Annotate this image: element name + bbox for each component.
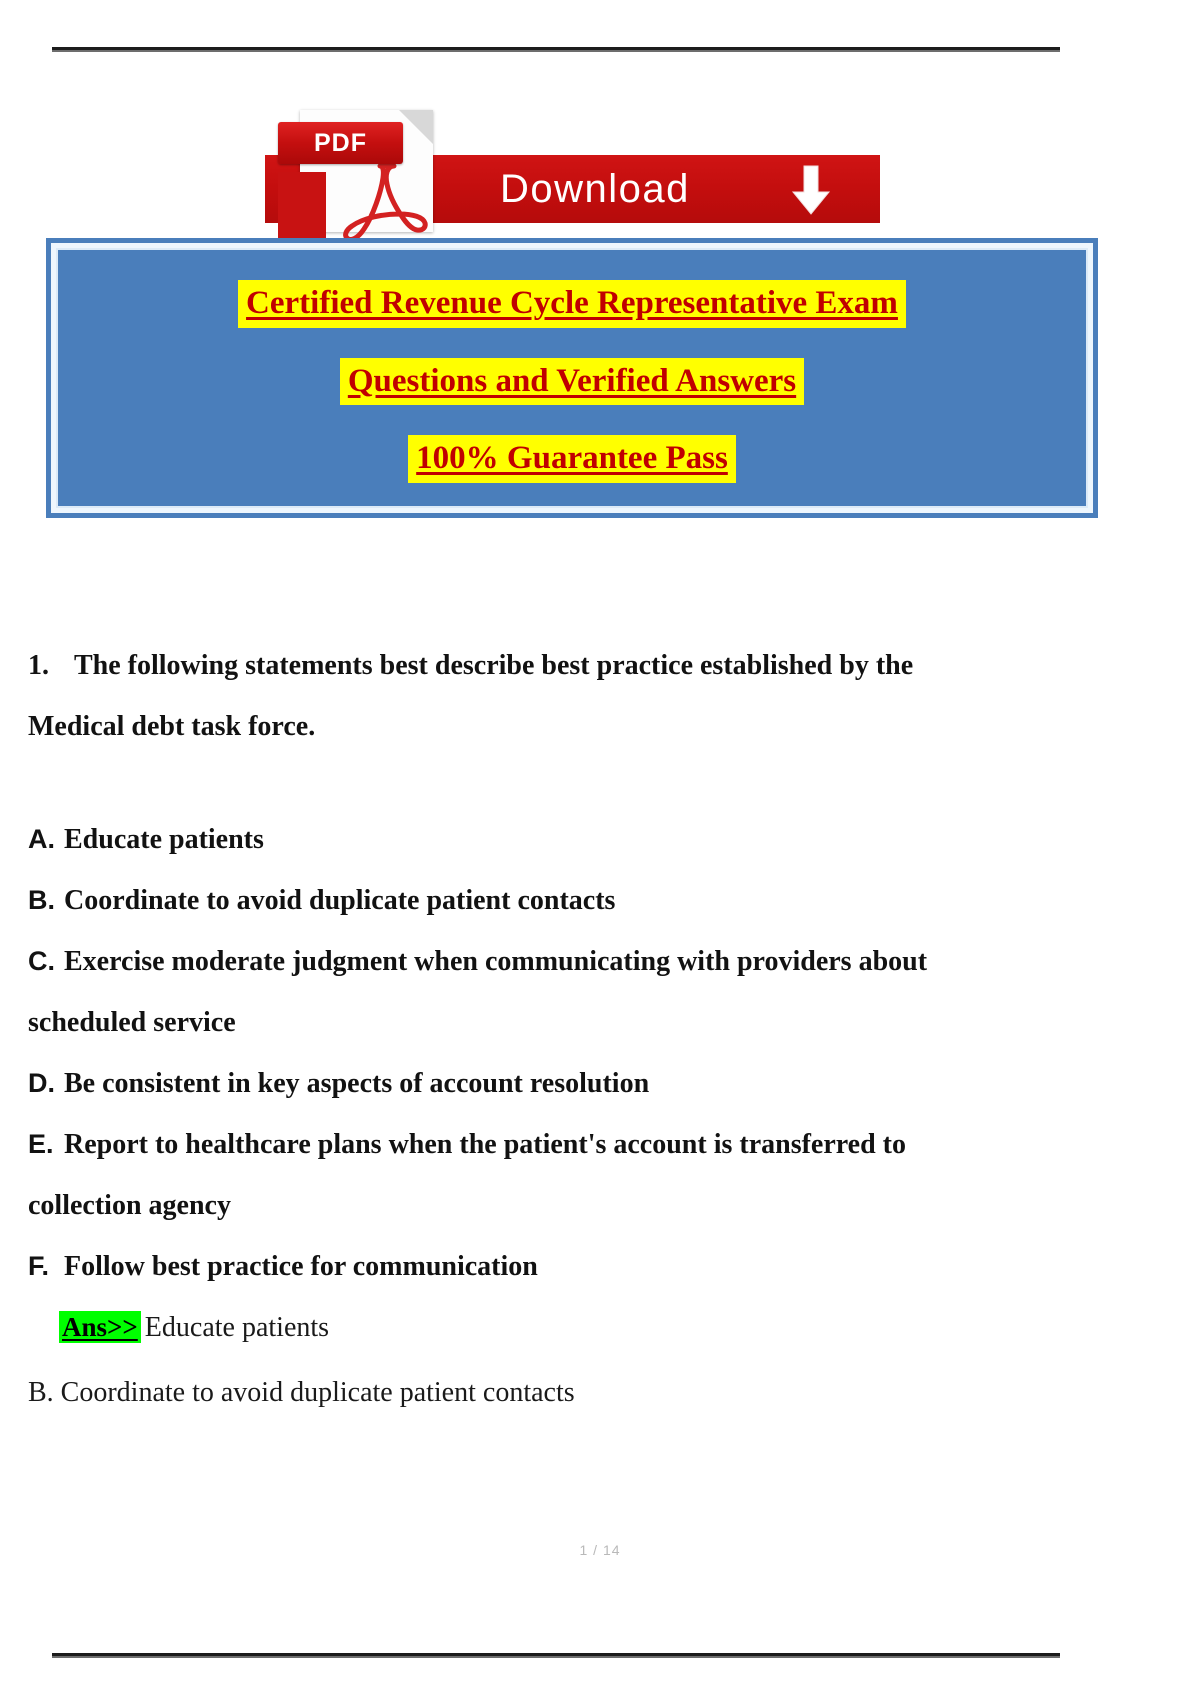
exam-title-banner: Certified Revenue Cycle Representative E… — [46, 238, 1098, 518]
acrobat-swirl-icon — [342, 162, 438, 242]
option-e-text: Report to healthcare plans when the pati… — [64, 1114, 906, 1175]
option-c[interactable]: C. Exercise moderate judgment when commu… — [28, 931, 1058, 992]
answer-tag: Ans>> — [59, 1311, 141, 1343]
pdf-label-text: PDF — [278, 122, 403, 164]
question-line-1: 1.The following statements best describe… — [28, 635, 1058, 696]
option-f[interactable]: F. Follow best practice for communicatio… — [28, 1236, 1058, 1297]
option-e-continuation: collection agency — [28, 1175, 1058, 1236]
option-c-text: Exercise moderate judgment when communic… — [64, 931, 927, 992]
option-f-letter: F. — [28, 1236, 64, 1297]
exam-title-banner-inner: Certified Revenue Cycle Representative E… — [56, 248, 1088, 508]
answer-text: Educate patients — [141, 1312, 329, 1343]
pdf-label-badge: PDF — [278, 122, 403, 164]
option-c-letter: C. — [28, 931, 64, 992]
footer-divider — [52, 1653, 1060, 1656]
question-spacer — [28, 757, 1058, 809]
exam-title-line-3: 100% Guarantee Pass — [408, 435, 736, 483]
option-d[interactable]: D. Be consistent in key aspects of accou… — [28, 1053, 1058, 1114]
option-e-letter: E. — [28, 1114, 64, 1175]
option-e[interactable]: E. Report to healthcare plans when the p… — [28, 1114, 1058, 1175]
answer-row: Ans>>Educate patients — [28, 1297, 1058, 1362]
question-number: 1. — [28, 635, 74, 696]
pdf-page-fold — [399, 110, 433, 144]
option-b-letter: B. — [28, 870, 64, 931]
option-a-letter: A. — [28, 809, 64, 870]
download-button-label[interactable]: Download — [500, 163, 770, 215]
download-arrow-icon — [786, 164, 836, 216]
pdf-icon-bar — [278, 172, 326, 238]
question-content: 1.The following statements best describe… — [28, 635, 1058, 1423]
option-d-letter: D. — [28, 1053, 64, 1114]
option-c-continuation: scheduled service — [28, 992, 1058, 1053]
exam-title-line-2: Questions and Verified Answers — [340, 358, 804, 406]
header-divider — [52, 47, 1060, 50]
question-text-1: The following statements best describe b… — [74, 650, 913, 681]
page-number: 1 / 14 — [0, 1542, 1200, 1558]
option-b[interactable]: B. Coordinate to avoid duplicate patient… — [28, 870, 1058, 931]
option-a[interactable]: A. Educate patients — [28, 809, 1058, 870]
option-f-text: Follow best practice for communication — [64, 1236, 538, 1297]
question-line-2: Medical debt task force. — [28, 696, 1058, 757]
pdf-file-icon: PDF — [278, 106, 433, 232]
answer-extra-line: B. Coordinate to avoid duplicate patient… — [28, 1362, 1058, 1423]
option-b-text: Coordinate to avoid duplicate patient co… — [64, 870, 615, 931]
document-page: Download PDF Certified Revenue Cycle Rep… — [0, 0, 1200, 1700]
option-d-text: Be consistent in key aspects of account … — [64, 1053, 649, 1114]
option-a-text: Educate patients — [64, 809, 264, 870]
exam-title-line-1: Certified Revenue Cycle Representative E… — [238, 280, 906, 328]
